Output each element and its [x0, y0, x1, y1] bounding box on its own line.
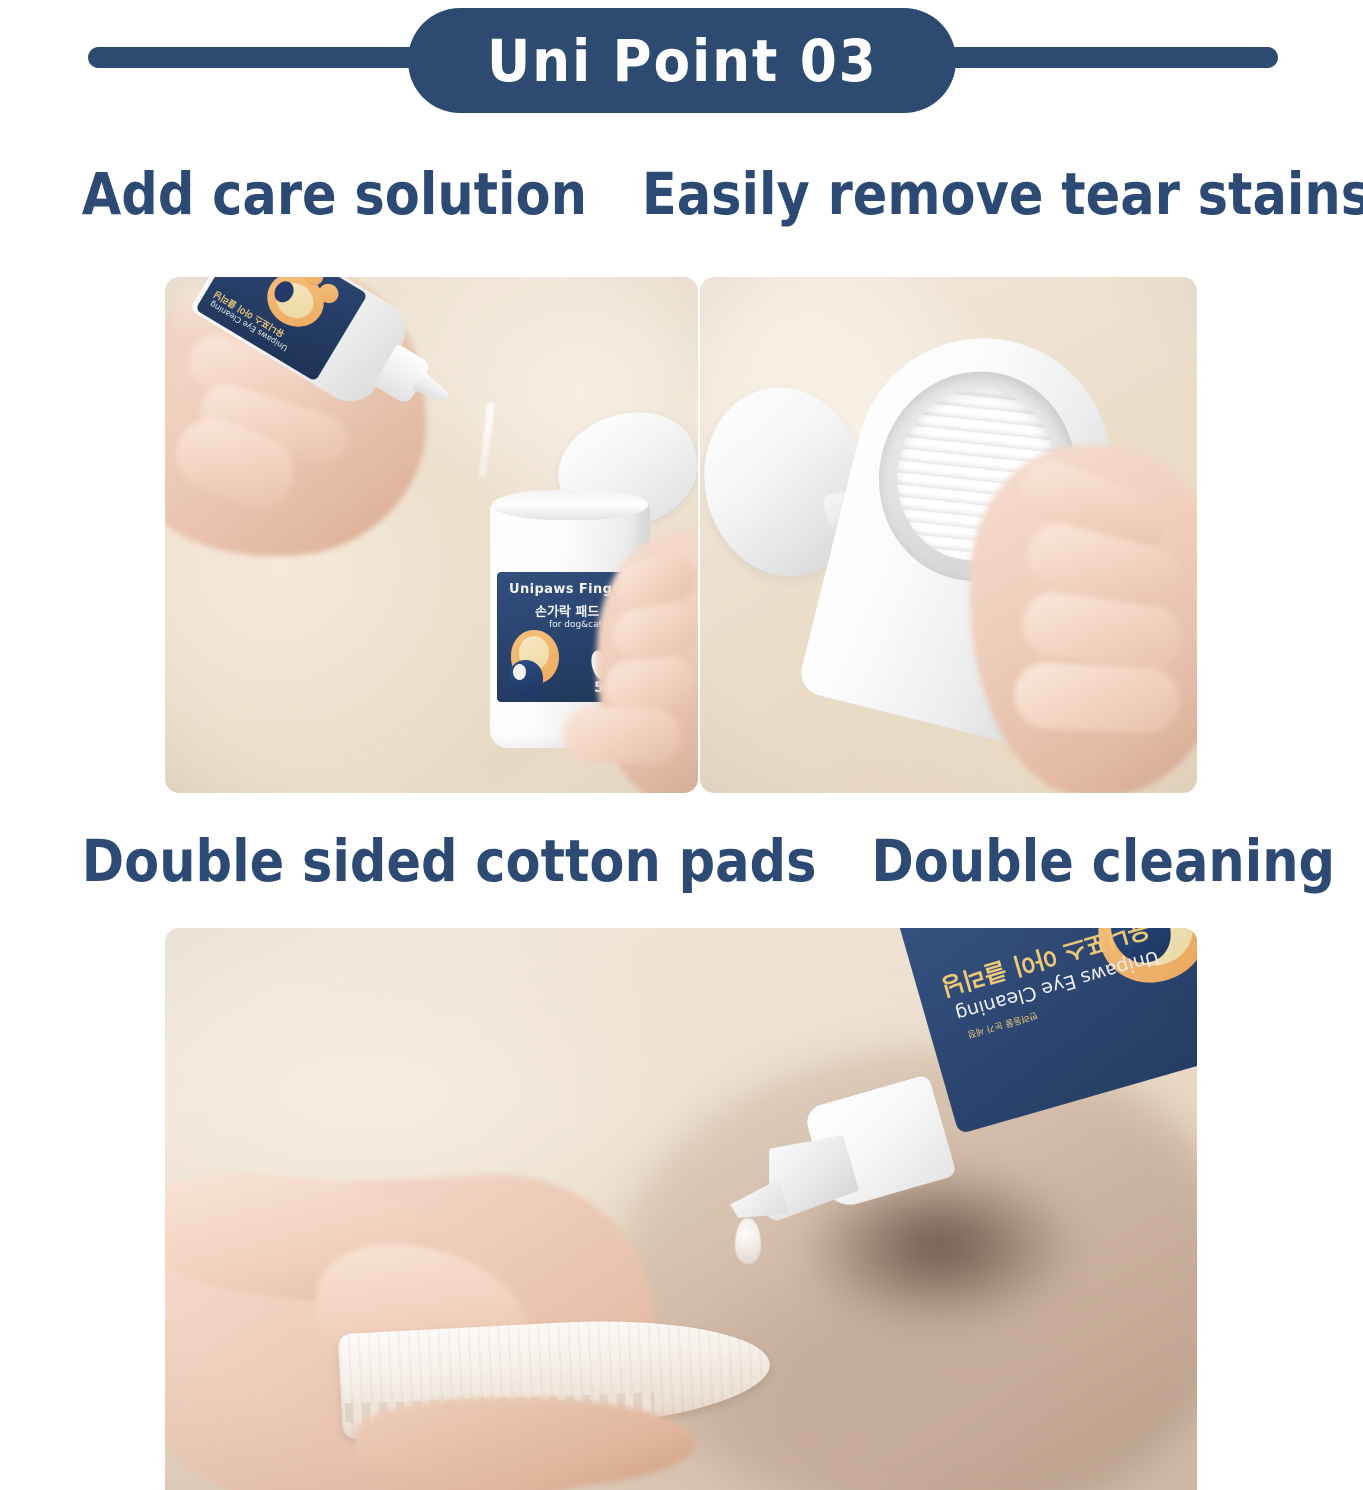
bottle-nozzle-tip — [727, 1179, 789, 1228]
photo-pour-solution: 유니포스 아이 클리닝 Unipaws Eye Cleaning 반려동물 Un… — [165, 277, 698, 793]
header-banner: Uni Point 03 — [0, 0, 1363, 128]
headline-2-part-a: Double sided cotton pads — [82, 827, 817, 895]
headline-1-part-a: Add care solution — [82, 160, 587, 228]
hand-finger-4 — [1012, 661, 1181, 736]
solution-drop — [735, 1218, 761, 1264]
headline-1-part-b: Easily remove tear stains — [642, 160, 1363, 228]
headline-2-part-b: Double cleaning — [871, 827, 1335, 895]
bottle-label-main: 유니포스 아이 클리닝 Unipaws Eye Cleaning 반려동물 눈가… — [897, 928, 1197, 1134]
headline-double-sided-pads: Double sided cotton pads Double cleaning — [82, 827, 1281, 895]
headline-add-care-solution: Add care solution Easily remove tear sta… — [82, 160, 1281, 228]
lower-fingers — [355, 1398, 695, 1488]
eye-cleaning-bottle-inverted: 유니포스 아이 클리닝 Unipaws Eye Cleaning 반려동물 눈가… — [737, 928, 1197, 1478]
right-finger-4 — [562, 705, 682, 765]
photo-open-jar: Unipaws Fing — [700, 277, 1197, 793]
photo-apply-to-pad: 유니포스 아이 클리닝 Unipaws Eye Cleaning 반려동물 눈가… — [165, 928, 1197, 1490]
right-finger-3 — [603, 656, 698, 714]
product-feature-page: Uni Point 03 Add care solution Easily re… — [0, 0, 1363, 1490]
uni-point-badge-label: Uni Point 03 — [487, 27, 878, 95]
uni-point-badge: Uni Point 03 — [408, 8, 956, 113]
